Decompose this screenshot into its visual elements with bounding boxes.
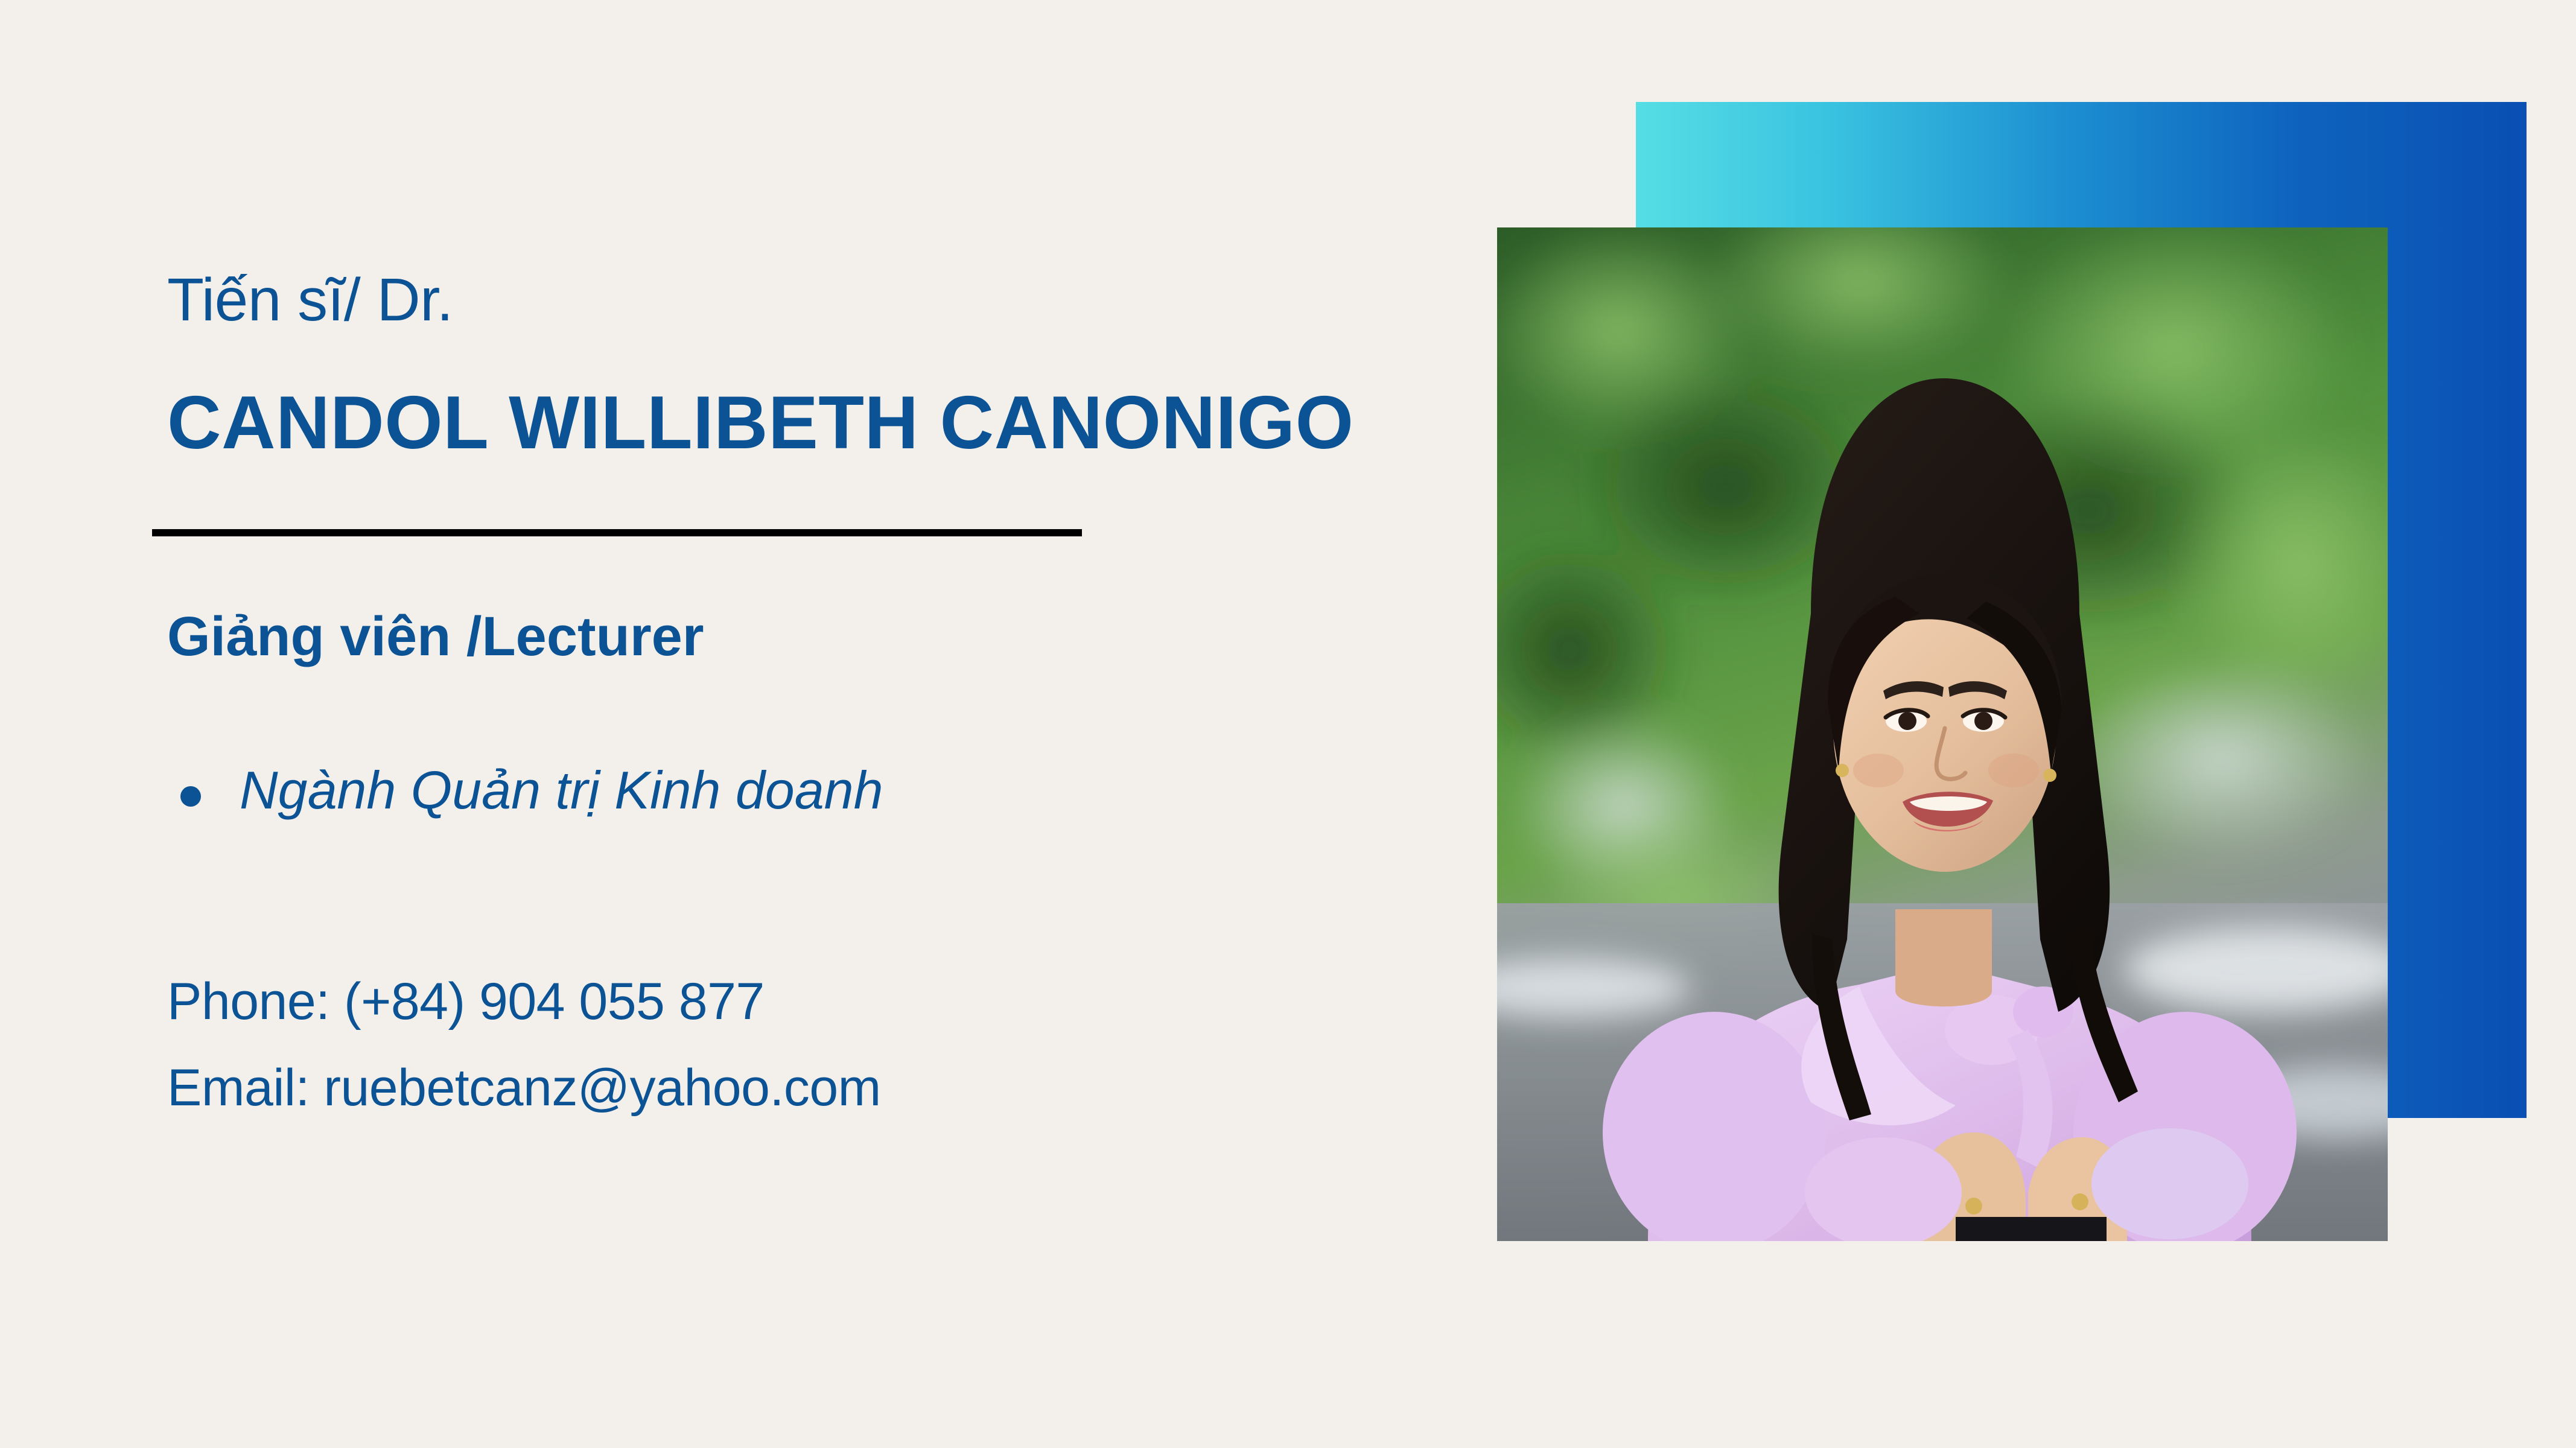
email-line: Email: ruebetcanz@yahoo.com: [167, 1058, 881, 1119]
profile-photo: [1497, 227, 2388, 1241]
department-label: Ngành Quản trị Kinh doanh: [240, 760, 883, 820]
job-title: Giảng viên /Lecturer: [167, 603, 704, 670]
slide-canvas: Tiến sĩ/ Dr. CANDOL WILLIBETH CANONIGO G…: [0, 0, 2576, 1448]
department-list: Ngành Quản trị Kinh doanh: [167, 757, 883, 824]
page-title: CANDOL WILLIBETH CANONIGO: [167, 380, 1354, 466]
list-item: Ngành Quản trị Kinh doanh: [167, 757, 883, 824]
degree-eyebrow: Tiến sĩ/ Dr.: [167, 265, 453, 335]
profile-text-column: Tiến sĩ/ Dr. CANDOL WILLIBETH CANONIGO G…: [152, 0, 1510, 1448]
phone-line: Phone: (+84) 904 055 877: [167, 971, 881, 1032]
title-divider: [152, 529, 1082, 536]
bullet-dot-icon: [180, 786, 201, 807]
contact-block: Phone: (+84) 904 055 877 Email: ruebetca…: [167, 971, 881, 1119]
